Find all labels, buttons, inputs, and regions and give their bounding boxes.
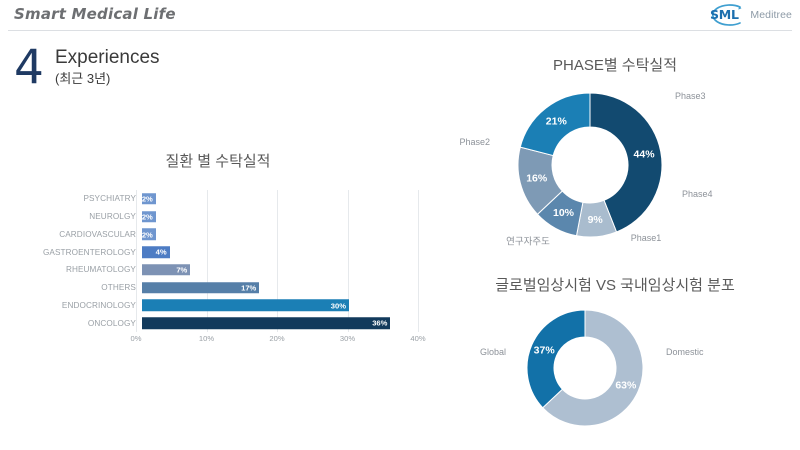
donut-value-label: 16% (526, 173, 548, 185)
donut-value-label: 9% (588, 214, 604, 226)
global-domestic-donut-chart: 63%Domestic37%Global (470, 300, 770, 440)
donut-category-label: Phase1 (631, 233, 662, 243)
bar-value-label: 17% (241, 283, 259, 292)
bar-fill: 7% (142, 264, 190, 276)
bar-track: 2% (142, 208, 418, 226)
bar-track: 7% (142, 261, 418, 279)
bar-category-label: NEUROLGY (18, 212, 142, 221)
bar-row: CARDIOVASCULAR2% (18, 226, 418, 244)
header-divider (8, 30, 792, 31)
bar-fill: 2% (142, 229, 156, 241)
bar-track: 36% (142, 314, 418, 332)
bar-track: 30% (142, 297, 418, 315)
section-number: 4 (14, 44, 44, 91)
bar-value-label: 2% (142, 194, 156, 203)
x-axis-tick-label: 30% (340, 334, 355, 343)
donut-category-label: Phase2 (459, 137, 490, 147)
donut-value-label: 44% (634, 149, 656, 161)
slide: Smart Medical Life SML Meditree 4 Experi… (0, 0, 800, 450)
donut-category-label: Global (480, 347, 506, 357)
donut-category-label: Phase3 (675, 91, 706, 101)
sml-swoosh-icon: SML (700, 3, 746, 27)
donut-slice (527, 310, 585, 408)
bar-category-label: ENDOCRINOLOGY (18, 301, 142, 310)
bar-category-label: GASTROENTEROLOGY (18, 248, 142, 257)
bar-category-label: OTHERS (18, 283, 142, 292)
logo-meditree-text: Meditree (750, 9, 792, 21)
bar-fill: 2% (142, 211, 156, 223)
phase-donut-title: PHASE별 수탁실적 (450, 54, 780, 75)
bar-track: 4% (142, 243, 418, 261)
bar-row: NEUROLGY2% (18, 208, 418, 226)
phase-donut-chart: 44%Phase39%Phase410%Phase116%연구자주도21%Pha… (470, 80, 770, 250)
x-axis-tick-label: 20% (269, 334, 284, 343)
bar-fill: 17% (142, 282, 259, 294)
bar-track: 2% (142, 190, 418, 208)
bar-value-label: 4% (156, 248, 170, 257)
bar-chart-rows: PSYCHIATRY2%NEUROLGY2%CARDIOVASCULAR2%GA… (18, 190, 418, 332)
section-title-group: Experiences (최근 3년) (55, 47, 160, 88)
bar-category-label: CARDIOVASCULAR (18, 230, 142, 239)
donut-category-label: 연구자주도 (506, 237, 550, 248)
bar-chart-x-axis: 0%10%20%30%40% (136, 334, 418, 348)
bar-value-label: 30% (331, 301, 349, 310)
bar-category-label: RHEUMATOLOGY (18, 265, 142, 274)
logo-sml-text: SML (706, 7, 742, 22)
bar-fill: 36% (142, 317, 390, 329)
bar-value-label: 2% (142, 230, 156, 239)
bar-value-label: 36% (372, 319, 390, 328)
bar-category-label: ONCOLOGY (18, 319, 142, 328)
bar-chart-title: 질환 별 수탁실적 (18, 150, 418, 171)
donut-category-label: Phase4 (682, 189, 713, 199)
bar-fill: 30% (142, 300, 349, 312)
bar-fill: 4% (142, 246, 170, 258)
bar-row: RHEUMATOLOGY7% (18, 261, 418, 279)
x-axis-tick-label: 10% (199, 334, 214, 343)
bar-row: ONCOLOGY36% (18, 314, 418, 332)
donut-value-label: 63% (615, 380, 637, 392)
x-axis-tick-label: 40% (410, 334, 425, 343)
sml-meditree-logo: SML Meditree (700, 3, 792, 27)
donut-value-label: 10% (553, 207, 575, 219)
bar-row: OTHERS17% (18, 279, 418, 297)
bar-track: 2% (142, 226, 418, 244)
x-axis-tick-label: 0% (131, 334, 142, 343)
bar-value-label: 2% (142, 212, 156, 221)
bar-fill: 2% (142, 193, 156, 205)
page-title: Experiences (55, 47, 160, 69)
bar-row: ENDOCRINOLOGY30% (18, 297, 418, 315)
donut-category-label: Domestic (666, 347, 704, 357)
bar-category-label: PSYCHIATRY (18, 194, 142, 203)
bar-chart: PSYCHIATRY2%NEUROLGY2%CARDIOVASCULAR2%GA… (18, 190, 418, 340)
donut-value-label: 21% (546, 116, 568, 128)
donut-value-label: 37% (534, 344, 556, 356)
bar-value-label: 7% (176, 265, 190, 274)
bar-row: GASTROENTEROLOGY4% (18, 243, 418, 261)
slide-header: Smart Medical Life SML Meditree (0, 0, 800, 30)
brand-text: Smart Medical Life (14, 5, 176, 23)
page-subtitle: (최근 3년) (55, 70, 160, 88)
bar-track: 17% (142, 279, 418, 297)
global-domestic-donut-title: 글로벌임상시험 VS 국내임상시험 분포 (450, 274, 780, 295)
bar-row: PSYCHIATRY2% (18, 190, 418, 208)
